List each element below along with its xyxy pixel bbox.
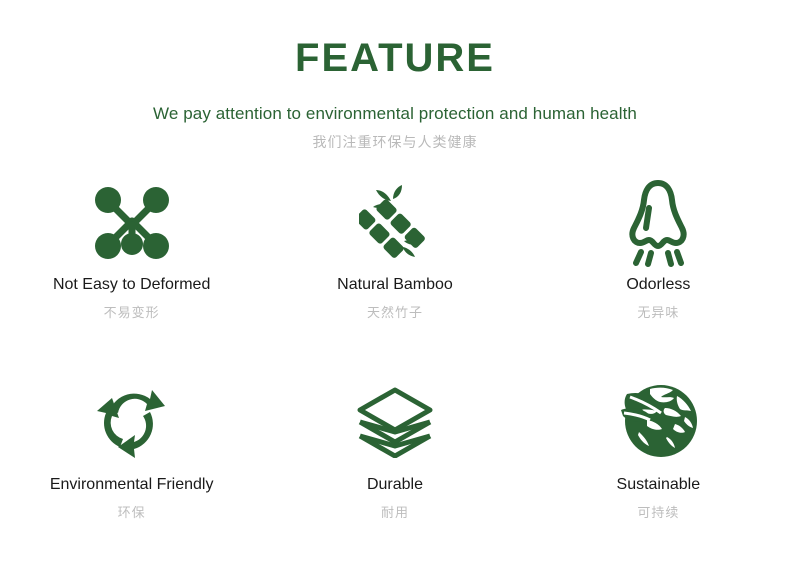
feature-label-cn: 不易变形 [104, 305, 160, 321]
feature-label-en: Sustainable [617, 475, 701, 495]
feature-label-cn: 无异味 [637, 305, 679, 321]
feature-item-sustainable: Sustainable 可持续 [527, 369, 790, 565]
feature-label-cn: 耐用 [381, 505, 409, 521]
feature-item-natural-bamboo: Natural Bamboo 天然竹子 [263, 173, 526, 369]
globe-leaf-icon [617, 371, 699, 471]
feature-item-environmental-friendly: Environmental Friendly 环保 [0, 369, 263, 565]
feature-section: FEATURE We pay attention to environmenta… [0, 0, 790, 576]
feature-label-en: Odorless [626, 275, 690, 295]
bamboo-icon [359, 175, 431, 271]
layers-stack-icon [354, 371, 436, 471]
feature-label-en: Natural Bamboo [337, 275, 453, 295]
feature-grid: Not Easy to Deformed 不易变形 [0, 173, 790, 565]
feature-label-cn: 天然竹子 [367, 305, 423, 321]
feature-label-cn: 可持续 [637, 505, 679, 521]
subtitle-chinese: 我们注重环保与人类健康 [0, 134, 790, 151]
subtitle-english: We pay attention to environmental protec… [0, 104, 790, 124]
feature-item-odorless: Odorless 无异味 [527, 173, 790, 369]
feature-label-cn: 环保 [118, 505, 146, 521]
molecule-network-icon [93, 175, 171, 271]
section-header: FEATURE We pay attention to environmenta… [0, 0, 790, 151]
feature-item-durable: Durable 耐用 [263, 369, 526, 565]
feature-item-not-easy-to-deformed: Not Easy to Deformed 不易变形 [0, 173, 263, 369]
recycle-icon [90, 371, 174, 471]
feature-label-en: Environmental Friendly [50, 475, 214, 495]
feature-label-en: Durable [367, 475, 423, 495]
page-title: FEATURE [0, 36, 790, 80]
nose-icon [623, 175, 693, 271]
feature-label-en: Not Easy to Deformed [53, 275, 210, 295]
